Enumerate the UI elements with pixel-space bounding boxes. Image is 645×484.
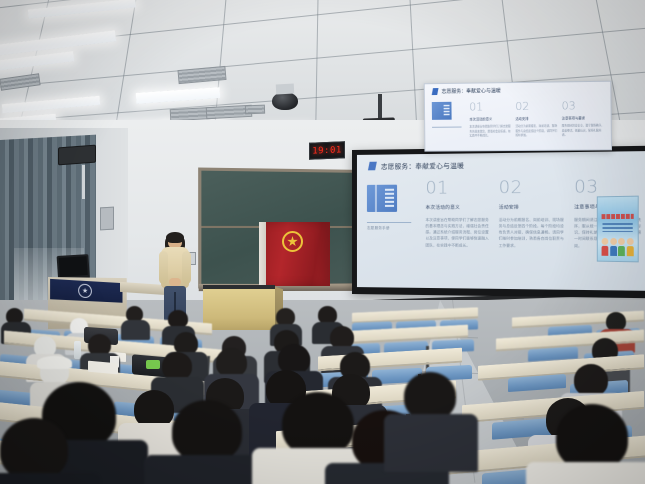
slide-column-02: 02 活动安排 活动分为前期报名、岗前培训、现场服务与总结反馈四个阶段。每个阶段…: [499, 179, 568, 285]
overlay-icon-column: [432, 102, 466, 148]
white-cap: [37, 356, 72, 369]
column-body: 服务期间注意安全，遵守现场秩序，着装整洁、佩戴标识，保持礼貌用语。: [562, 124, 605, 138]
slide-icon-column: 志愿服务手册: [367, 180, 419, 283]
column-number: 03: [574, 179, 645, 197]
column-heading: 活动安排: [515, 116, 557, 121]
ceiling-light-panel: [136, 87, 221, 104]
overlay-slide-panel: 志愿服务：奉献爱心与温暖 01 本次活动的意义 本次讲座旨在帮助同学们了解志愿服…: [424, 81, 612, 152]
column-number: 02: [515, 101, 558, 113]
led-wall-clock: 19:01: [309, 141, 345, 160]
column-body: 本次讲座旨在帮助同学们了解志愿服务的基本理念与实践方法，增强社会责任感。通过系统…: [426, 217, 493, 248]
ceiling-light-panel: [0, 51, 74, 71]
icon-divider: [432, 127, 462, 128]
youth-league-flag: [266, 222, 330, 286]
column-heading: 注意事项与要求: [562, 115, 605, 120]
presenter-hands: [169, 278, 181, 286]
school-emblem-icon: ★: [78, 283, 92, 298]
lecture-hall-photo: 19:01 志愿服务：奉献爱心与温暖 志愿服务手册 01: [0, 0, 645, 484]
column-heading: 本次活动的意义: [469, 116, 511, 121]
overlay-slide-body: 01 本次活动的意义 本次讲座旨在帮助同学们了解志愿服务的基本理念，增强社会责任…: [432, 100, 605, 148]
icon-caption: 志愿服务手册: [367, 226, 419, 231]
ceiling-air-vent: [0, 73, 41, 90]
kid-figure: [601, 238, 608, 256]
column-number: 01: [426, 180, 493, 198]
presenter-hair: [166, 232, 184, 243]
ceiling-air-vent: [245, 105, 265, 115]
overlay-logo-icon: [432, 88, 439, 95]
book-icon: [367, 185, 397, 212]
poster-subline: [603, 223, 633, 232]
clock-value: 19:01: [312, 145, 342, 156]
wall-control-panel: [100, 207, 114, 231]
kid-figure: [618, 238, 625, 256]
column-heading: 活动安排: [499, 204, 568, 210]
column-number: 02: [499, 179, 568, 197]
star-icon: [287, 236, 298, 247]
kid-figure: [610, 238, 617, 256]
overlay-slide-header: 志愿服务：奉献爱心与温暖: [432, 87, 501, 95]
column-body: 活动分为前期报名、岗前培训、现场服务与总结反馈四个阶段，请同学们按时参加。: [515, 125, 558, 139]
podium-banner: ★: [50, 279, 122, 303]
poster-illustration: [601, 236, 635, 256]
overlay-column-03: 03 注意事项与要求 服务期间注意安全，遵守现场秩序，着装整洁、佩戴标识，保持礼…: [562, 100, 605, 147]
overlay-column-01: 01 本次活动的意义 本次讲座旨在帮助同学们了解志愿服务的基本理念，增强社会责任…: [469, 101, 511, 147]
icon-divider: [367, 222, 411, 223]
slide-title: 志愿服务：奉献爱心与温暖: [381, 160, 464, 171]
column-number: 03: [562, 100, 605, 112]
column-number: 01: [469, 101, 511, 112]
ceiling-dome-camera: [272, 92, 298, 110]
wooden-lectern: [203, 285, 275, 330]
wall-speaker: [58, 145, 96, 166]
slide-column-01: 01 本次活动的意义 本次讲座旨在帮助同学们了解志愿服务的基本理念与实践方法，增…: [426, 180, 493, 285]
overlay-slide-title: 志愿服务：奉献爱心与温暖: [441, 87, 500, 95]
column-body: 活动分为前期报名、岗前培训、现场服务与总结反馈四个阶段。每个阶段均设有负责人对接…: [499, 217, 568, 249]
slide-logo-icon: [368, 161, 377, 170]
kid-figure: [627, 238, 634, 256]
ceiling-light-panel: [2, 96, 100, 114]
poster-headline: [602, 214, 634, 219]
wall-poster: [597, 196, 639, 263]
column-body: 本次讲座旨在帮助同学们了解志愿服务的基本理念，增强社会责任感，在实践中不断成长。: [469, 125, 511, 139]
column-heading: 本次活动的意义: [426, 205, 493, 211]
slide-header: 志愿服务：奉献爱心与温暖: [368, 160, 464, 171]
overlay-column-02: 02 活动安排 活动分为前期报名、岗前培训、现场服务与总结反馈四个阶段，请同学们…: [515, 101, 558, 148]
flag-star-emblem: [282, 231, 303, 252]
book-icon: [432, 102, 452, 120]
projector-mount-rod: [378, 94, 382, 120]
